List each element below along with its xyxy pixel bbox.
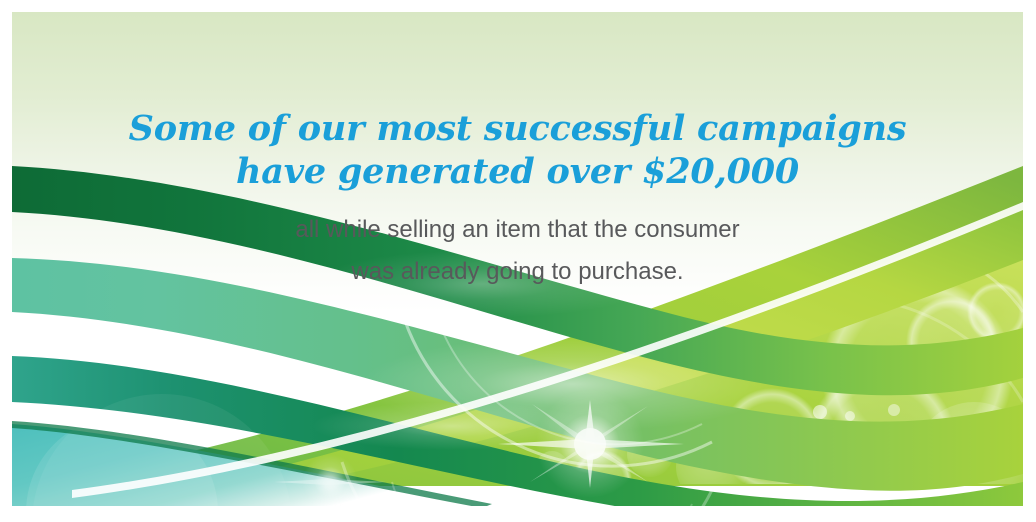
subtitle: all while selling an item that the consu… — [12, 193, 1023, 292]
headline-line-1: Some of our most successful campaigns — [129, 108, 907, 149]
subtitle-line-2: was already going to purchase. — [12, 251, 1023, 292]
banner-canvas: Some of our most successful campaigns ha… — [12, 12, 1023, 506]
page-title: Some of our most successful campaigns ha… — [12, 12, 1023, 193]
banner-text-block: Some of our most successful campaigns ha… — [12, 12, 1023, 292]
headline-line-2: have generated over $20,000 — [12, 151, 1023, 194]
marketing-banner: Some of our most successful campaigns ha… — [0, 0, 1036, 522]
subtitle-line-1: all while selling an item that the consu… — [295, 216, 739, 243]
